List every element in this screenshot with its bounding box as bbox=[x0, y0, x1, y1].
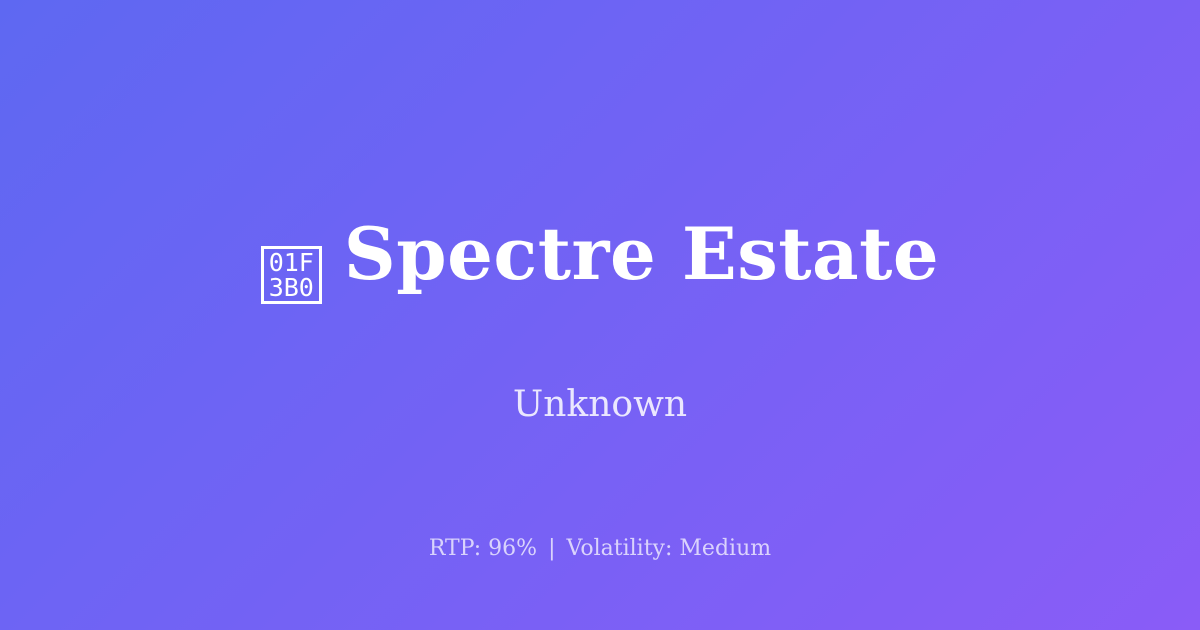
page-title: Spectre Estate bbox=[344, 214, 939, 293]
footer-meta: RTP: 96% | Volatility: Medium bbox=[0, 536, 1200, 562]
title-row: 01F 3B0 Spectre Estate bbox=[261, 166, 939, 342]
rtp-value: 96% bbox=[488, 536, 537, 561]
rtp-label: RTP: bbox=[429, 536, 481, 561]
volatility-label: Volatility: bbox=[567, 536, 673, 561]
meta-separator: | bbox=[544, 536, 559, 561]
slot-machine-emoji-icon: 01F 3B0 bbox=[261, 246, 322, 304]
main-content-block: 01F 3B0 Spectre Estate Unknown bbox=[0, 166, 1200, 427]
subtitle: Unknown bbox=[513, 383, 687, 426]
emoji-codepoint-top: 01F bbox=[269, 250, 314, 275]
og-card: 01F 3B0 Spectre Estate Unknown RTP: 96% … bbox=[0, 0, 1200, 630]
emoji-codepoint-bottom: 3B0 bbox=[269, 275, 314, 300]
volatility-value: Medium bbox=[679, 536, 771, 561]
